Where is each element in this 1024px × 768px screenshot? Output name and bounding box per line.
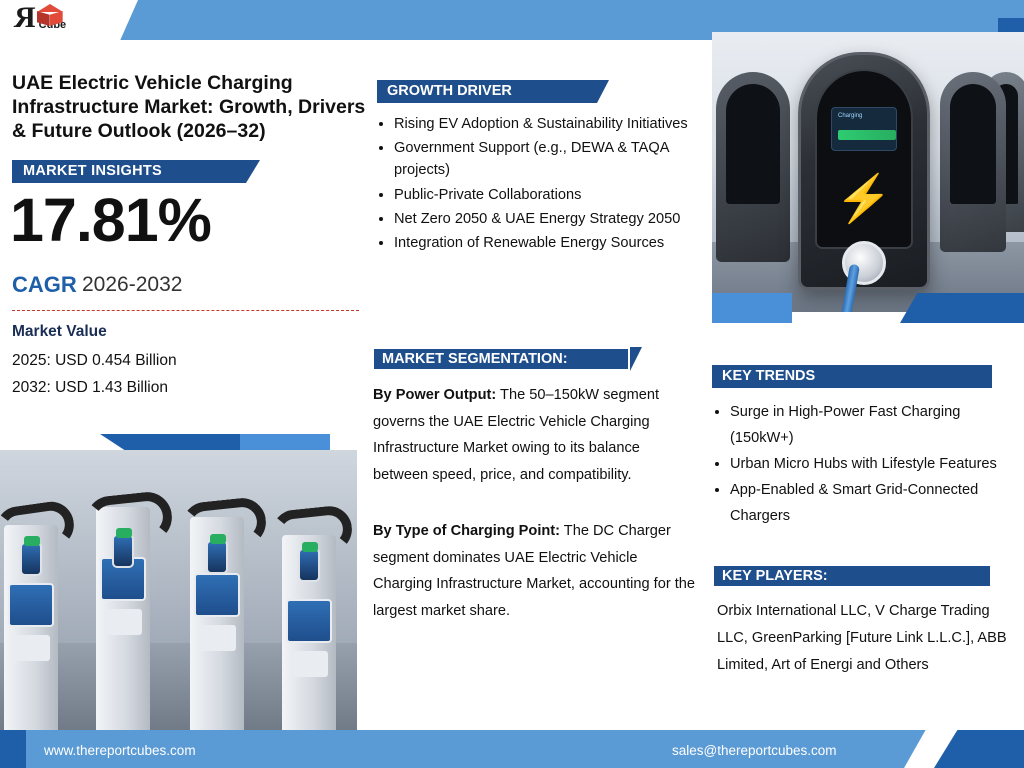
list-item: Urban Micro Hubs with Lifestyle Features [730,452,1014,478]
market-insights-label: MARKET INSIGHTS [12,160,246,183]
cagr-label: CAGR [12,272,77,298]
charger-unit-left [716,72,790,262]
cube-icon [37,4,63,30]
brand-logo[interactable]: R Cube [14,3,66,33]
list-item: Public-Private Collaborations [394,184,698,206]
market-segmentation-ribbon-tail [630,347,642,371]
key-trends-ribbon: KEY TRENDS [712,365,992,388]
charger-unit-right [940,72,1006,252]
divider [12,310,359,311]
list-item: App-Enabled & Smart Grid-Connected Charg… [730,478,1014,530]
market-insights-ribbon-tail [246,160,260,183]
logo-letter: R [14,3,36,33]
market-segmentation-label: MARKET SEGMENTATION: [374,349,628,369]
growth-driver-label: GROWTH DRIVER [377,80,597,103]
list-item: Government Support (e.g., DEWA & TAQA pr… [394,137,698,181]
key-players-label: KEY PLAYERS: [714,566,990,586]
lightning-bolt-icon: ⚡ [835,175,892,221]
market-value-2025: 2025: USD 0.454 Billion [12,352,177,370]
cagr-value: 17.81% [10,186,211,254]
market-insights-ribbon: MARKET INSIGHTS [12,160,246,183]
segmentation-para1-heading: By Power Output: [373,387,496,403]
segmentation-paragraph-1: By Power Output: The 50–150kW segment go… [373,382,698,488]
list-item: Net Zero 2050 & UAE Energy Strategy 2050 [394,208,698,230]
growth-driver-ribbon-tail [597,80,609,103]
list-item: Rising EV Adoption & Sustainability Init… [394,113,698,135]
right-photo-accent-1 [712,293,792,323]
segmentation-para2-heading: By Type of Charging Point: [373,523,560,539]
ev-charging-connectors-photo [0,450,357,735]
footer-email[interactable]: sales@thereportcubes.com [672,743,837,758]
ev-charging-station-photo: Charging ⚡ [712,32,1024,312]
infographic-page: R Cube UAE Electric Vehicle Charging Inf… [0,0,1024,768]
list-item: Surge in High-Power Fast Charging (150kW… [730,400,1014,452]
right-photo-accent-2 [900,293,1024,323]
cagr-years: 2026-2032 [82,273,182,297]
market-value-2032: 2032: USD 1.43 Billion [12,379,168,397]
footer-website[interactable]: www.thereportcubes.com [44,743,196,758]
market-value-title: Market Value [12,323,107,341]
key-players-ribbon: KEY PLAYERS: [712,564,992,588]
charger-unit-main: Charging ⚡ [798,52,930,290]
growth-driver-list: Rising EV Adoption & Sustainability Init… [378,113,698,256]
list-item: Integration of Renewable Energy Sources [394,232,698,254]
growth-driver-ribbon: GROWTH DRIVER [377,80,597,103]
segmentation-paragraph-2: By Type of Charging Point: The DC Charge… [373,518,698,624]
key-trends-list: Surge in High-Power Fast Charging (150kW… [714,400,1014,530]
key-trends-label: KEY TRENDS [712,365,992,388]
page-title: UAE Electric Vehicle Charging Infrastruc… [12,72,372,143]
bottom-left-accent [0,730,26,768]
key-players-text: Orbix International LLC, V Charge Tradin… [717,598,1007,679]
market-segmentation-ribbon: MARKET SEGMENTATION: [372,347,630,371]
